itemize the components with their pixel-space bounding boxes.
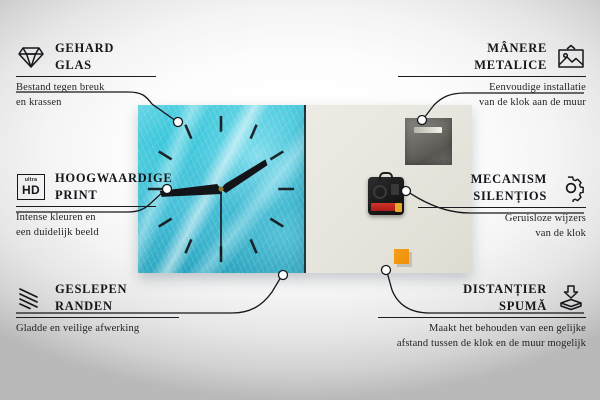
feature-desc-line: Intense kleuren en xyxy=(16,211,196,225)
feature-mecanism-silentios: MECANISM SILENȚIOS Geruisloze wijzers va… xyxy=(406,171,586,241)
feature-header: MÂNERE METALICE xyxy=(386,40,586,73)
hanging-loop xyxy=(379,172,393,181)
gear-icon xyxy=(556,173,586,203)
feature-desc-line: een duidelijk beeld xyxy=(16,226,196,240)
feature-rule xyxy=(16,206,156,207)
feature-header: GEHARD GLAS xyxy=(16,40,196,73)
feature-title: HOOGWAARDIGE PRINT xyxy=(55,170,172,203)
feature-desc-line: Geruisloze wijzers xyxy=(406,212,586,226)
feature-title: MECANISM SILENȚIOS xyxy=(471,171,547,204)
feature-desc-line: Gladde en veilige afwerking xyxy=(16,322,196,336)
feature-rule xyxy=(418,207,586,208)
feature-description: Gladde en veilige afwerking xyxy=(16,322,196,336)
feature-rule xyxy=(378,317,586,318)
feature-desc-line: afstand tussen de klok en de muur mogeli… xyxy=(366,337,586,351)
foam-spacer xyxy=(394,249,409,264)
feature-hoogwaardige-print: ultra HD HOOGWAARDIGE PRINT Intense kleu… xyxy=(16,170,196,240)
feature-desc-line: Bestand tegen breuk xyxy=(16,81,196,95)
ultra-hd-icon: ultra HD xyxy=(16,172,46,202)
feature-header: GESLEPEN RANDEN xyxy=(16,281,196,314)
feature-title-line: SILENȚIOS xyxy=(471,188,547,205)
feature-desc-line: van de klok aan de muur xyxy=(386,96,586,110)
feature-title-line: MECANISM xyxy=(471,171,547,188)
feature-header: ultra HD HOOGWAARDIGE PRINT xyxy=(16,170,196,203)
feature-title: GEHARD GLAS xyxy=(55,40,114,73)
feature-desc-line: en krassen xyxy=(16,96,196,110)
feature-rule xyxy=(398,76,586,77)
beveled-edge-icon xyxy=(16,283,46,313)
hanger-slot xyxy=(414,127,442,133)
clock-hour-hand xyxy=(221,159,267,193)
feature-title-line: HOOGWAARDIGE xyxy=(55,170,172,187)
feature-rule xyxy=(16,76,156,77)
spacer-layers-icon xyxy=(556,283,586,313)
feature-gehard-glas: GEHARD GLAS Bestand tegen breuk en krass… xyxy=(16,40,196,110)
wall-mount-frame-icon xyxy=(556,42,586,72)
feature-header: MECANISM SILENȚIOS xyxy=(406,171,586,204)
feature-title-line: DISTANȚIER xyxy=(463,281,547,298)
metal-hanger-plate xyxy=(405,118,452,165)
feature-description: Geruisloze wijzers van de klok xyxy=(406,212,586,241)
feature-title: DISTANȚIER SPUMĂ xyxy=(463,281,547,314)
feature-title: GESLEPEN RANDEN xyxy=(55,281,127,314)
diamond-icon xyxy=(16,42,46,72)
feature-desc-line: Eenvoudige installatie xyxy=(386,81,586,95)
hd-label: HD xyxy=(22,184,40,196)
feature-title-line: RANDEN xyxy=(55,298,127,315)
battery-terminal xyxy=(395,203,402,212)
feature-title-line: GEHARD xyxy=(55,40,114,57)
feature-description: Bestand tegen breuk en krassen xyxy=(16,81,196,110)
feature-manere-metalice: MÂNERE METALICE Eenvoudige installatie v… xyxy=(386,40,586,110)
feature-title-line: METALICE xyxy=(474,57,547,74)
movement-chip xyxy=(391,184,399,195)
feature-title-line: PRINT xyxy=(55,187,172,204)
infographic-canvas: GEHARD GLAS Bestand tegen breuk en krass… xyxy=(0,0,600,400)
movement-dial xyxy=(373,185,387,199)
feature-desc-line: van de klok xyxy=(406,227,586,241)
feature-distantier-spuma: DISTANȚIER SPUMĂ Maakt het behouden van … xyxy=(366,281,586,351)
feature-geslepen-randen: GESLEPEN RANDEN Gladde en veilige afwerk… xyxy=(16,281,196,337)
feature-title-line: GESLEPEN xyxy=(55,281,127,298)
feature-desc-line: Maakt het behouden van een gelijke xyxy=(366,322,586,336)
feature-title-line: MÂNERE xyxy=(474,40,547,57)
feature-description: Maakt het behouden van een gelijke afsta… xyxy=(366,322,586,351)
feature-rule xyxy=(16,317,179,318)
feature-title-line: GLAS xyxy=(55,57,114,74)
feature-title: MÂNERE METALICE xyxy=(474,40,547,73)
feature-header: DISTANȚIER SPUMĂ xyxy=(366,281,586,314)
ultra-label: ultra xyxy=(25,178,37,183)
feature-description: Intense kleuren en een duidelijk beeld xyxy=(16,211,196,240)
feature-title-line: SPUMĂ xyxy=(463,298,547,315)
clock-movement-mechanism xyxy=(368,177,404,215)
feature-description: Eenvoudige installatie van de klok aan d… xyxy=(386,81,586,110)
